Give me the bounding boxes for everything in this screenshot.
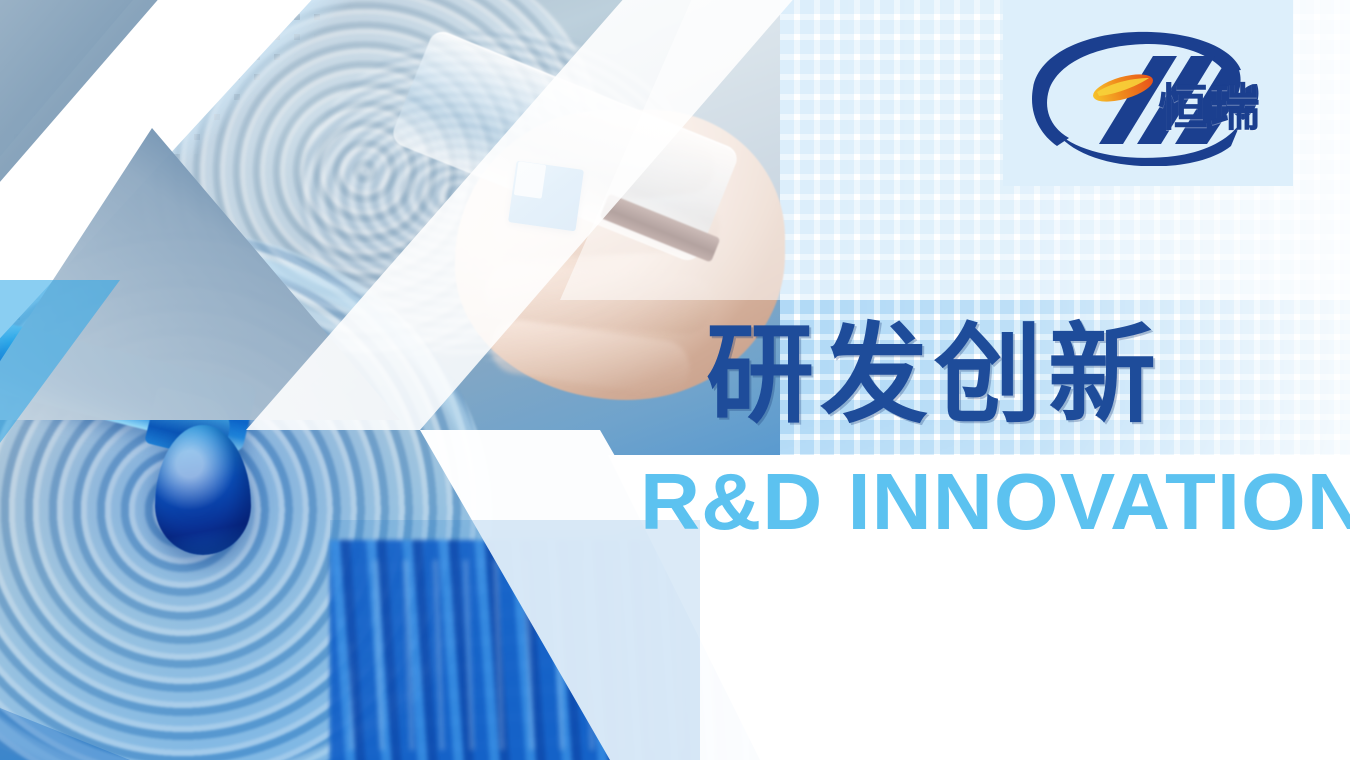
logo-company-name: 恒瑞 (1158, 83, 1262, 133)
page-subtitle: R&D INNOVATION (640, 462, 1350, 542)
rd-innovation-banner: 恒瑞 研发创新 R&D INNOVATION (0, 0, 1350, 760)
page-title: 研发创新 (706, 322, 1162, 430)
